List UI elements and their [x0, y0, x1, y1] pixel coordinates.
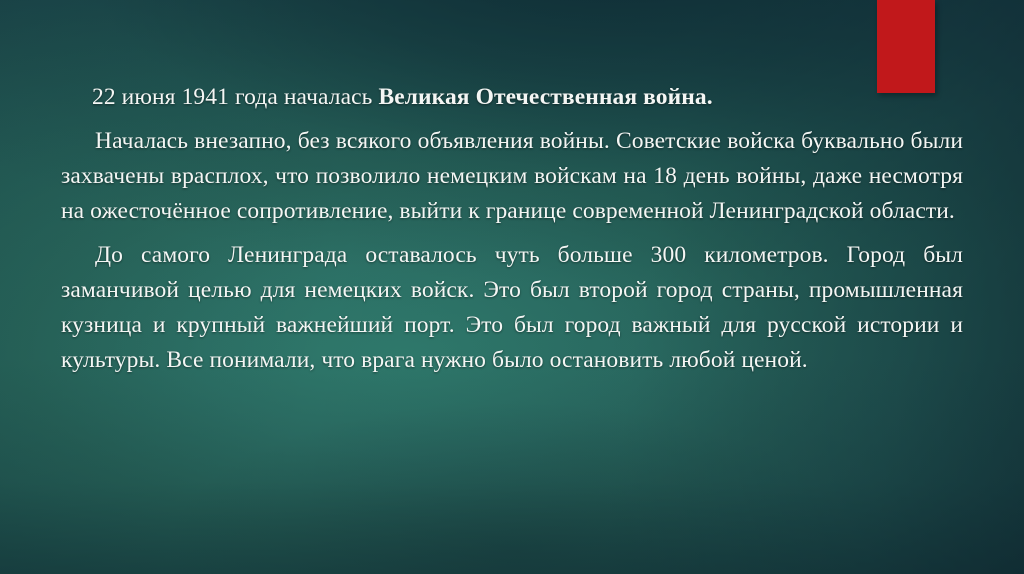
body-paragraph-1: Началась внезапно, без всякого объявлени… — [61, 124, 963, 229]
lead-paragraph-bold-text: Великая Отечественная война. — [378, 84, 712, 110]
lead-paragraph: 22 июня 1941 года началась Великая Отече… — [61, 80, 963, 115]
slide-text-body: 22 июня 1941 года началась Великая Отече… — [61, 80, 963, 378]
presentation-slide: 22 июня 1941 года началась Великая Отече… — [0, 0, 1024, 574]
lead-paragraph-normal-text: 22 июня 1941 года началась — [92, 84, 378, 110]
body-paragraph-2: До самого Ленинграда оставалось чуть бол… — [61, 238, 963, 378]
